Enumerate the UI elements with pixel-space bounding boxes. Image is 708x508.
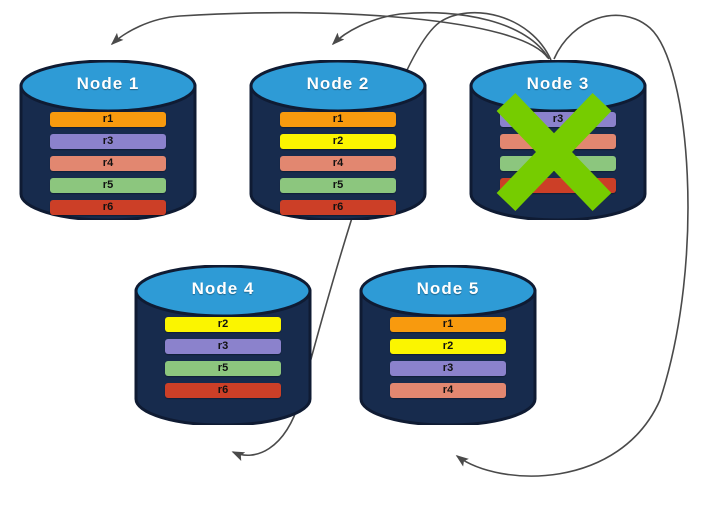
record-bar-r1[interactable]: r1 [50, 112, 166, 127]
record-list: r2r3r5r6 [165, 317, 281, 405]
record-bar-r4[interactable]: r4 [390, 383, 506, 398]
cylinder-top-ellipse [136, 266, 310, 316]
database-node-4[interactable]: Node 4r2r3r5r6 [133, 265, 313, 425]
cylinder-top-ellipse [251, 61, 425, 111]
record-bar-r1[interactable]: r1 [280, 112, 396, 127]
failure-x-icon [468, 60, 648, 220]
database-node-2[interactable]: Node 2r1r2r4r5r6 [248, 60, 428, 220]
record-bar-r2[interactable]: r2 [390, 339, 506, 354]
cylinder-top-ellipse [21, 61, 195, 111]
diagram-canvas: Node 1r1r3r4r5r6Node 2r1r2r4r5r6Node 3r3… [0, 0, 708, 508]
record-bar-r4[interactable]: r4 [280, 156, 396, 171]
record-bar-r6[interactable]: r6 [50, 200, 166, 215]
record-bar-r2[interactable]: r2 [280, 134, 396, 149]
record-list: r1r2r4r5r6 [280, 112, 396, 222]
record-bar-r6[interactable]: r6 [165, 383, 281, 398]
record-bar-r1[interactable]: r1 [390, 317, 506, 332]
record-bar-r3[interactable]: r3 [50, 134, 166, 149]
record-bar-r4[interactable]: r4 [50, 156, 166, 171]
record-list: r1r3r4r5r6 [50, 112, 166, 222]
database-node-1[interactable]: Node 1r1r3r4r5r6 [18, 60, 198, 220]
cylinder-top-ellipse [361, 266, 535, 316]
record-bar-r6[interactable]: r6 [280, 200, 396, 215]
edge-node3-to-node2 [333, 13, 549, 59]
record-bar-r5[interactable]: r5 [280, 178, 396, 193]
record-bar-r3[interactable]: r3 [390, 361, 506, 376]
edge-node3-to-node1 [112, 13, 548, 58]
database-node-3[interactable]: Node 3r3 [468, 60, 648, 220]
record-list: r1r2r3r4 [390, 317, 506, 405]
record-bar-r3[interactable]: r3 [165, 339, 281, 354]
record-bar-r5[interactable]: r5 [165, 361, 281, 376]
record-bar-r2[interactable]: r2 [165, 317, 281, 332]
database-node-5[interactable]: Node 5r1r2r3r4 [358, 265, 538, 425]
record-bar-r5[interactable]: r5 [50, 178, 166, 193]
